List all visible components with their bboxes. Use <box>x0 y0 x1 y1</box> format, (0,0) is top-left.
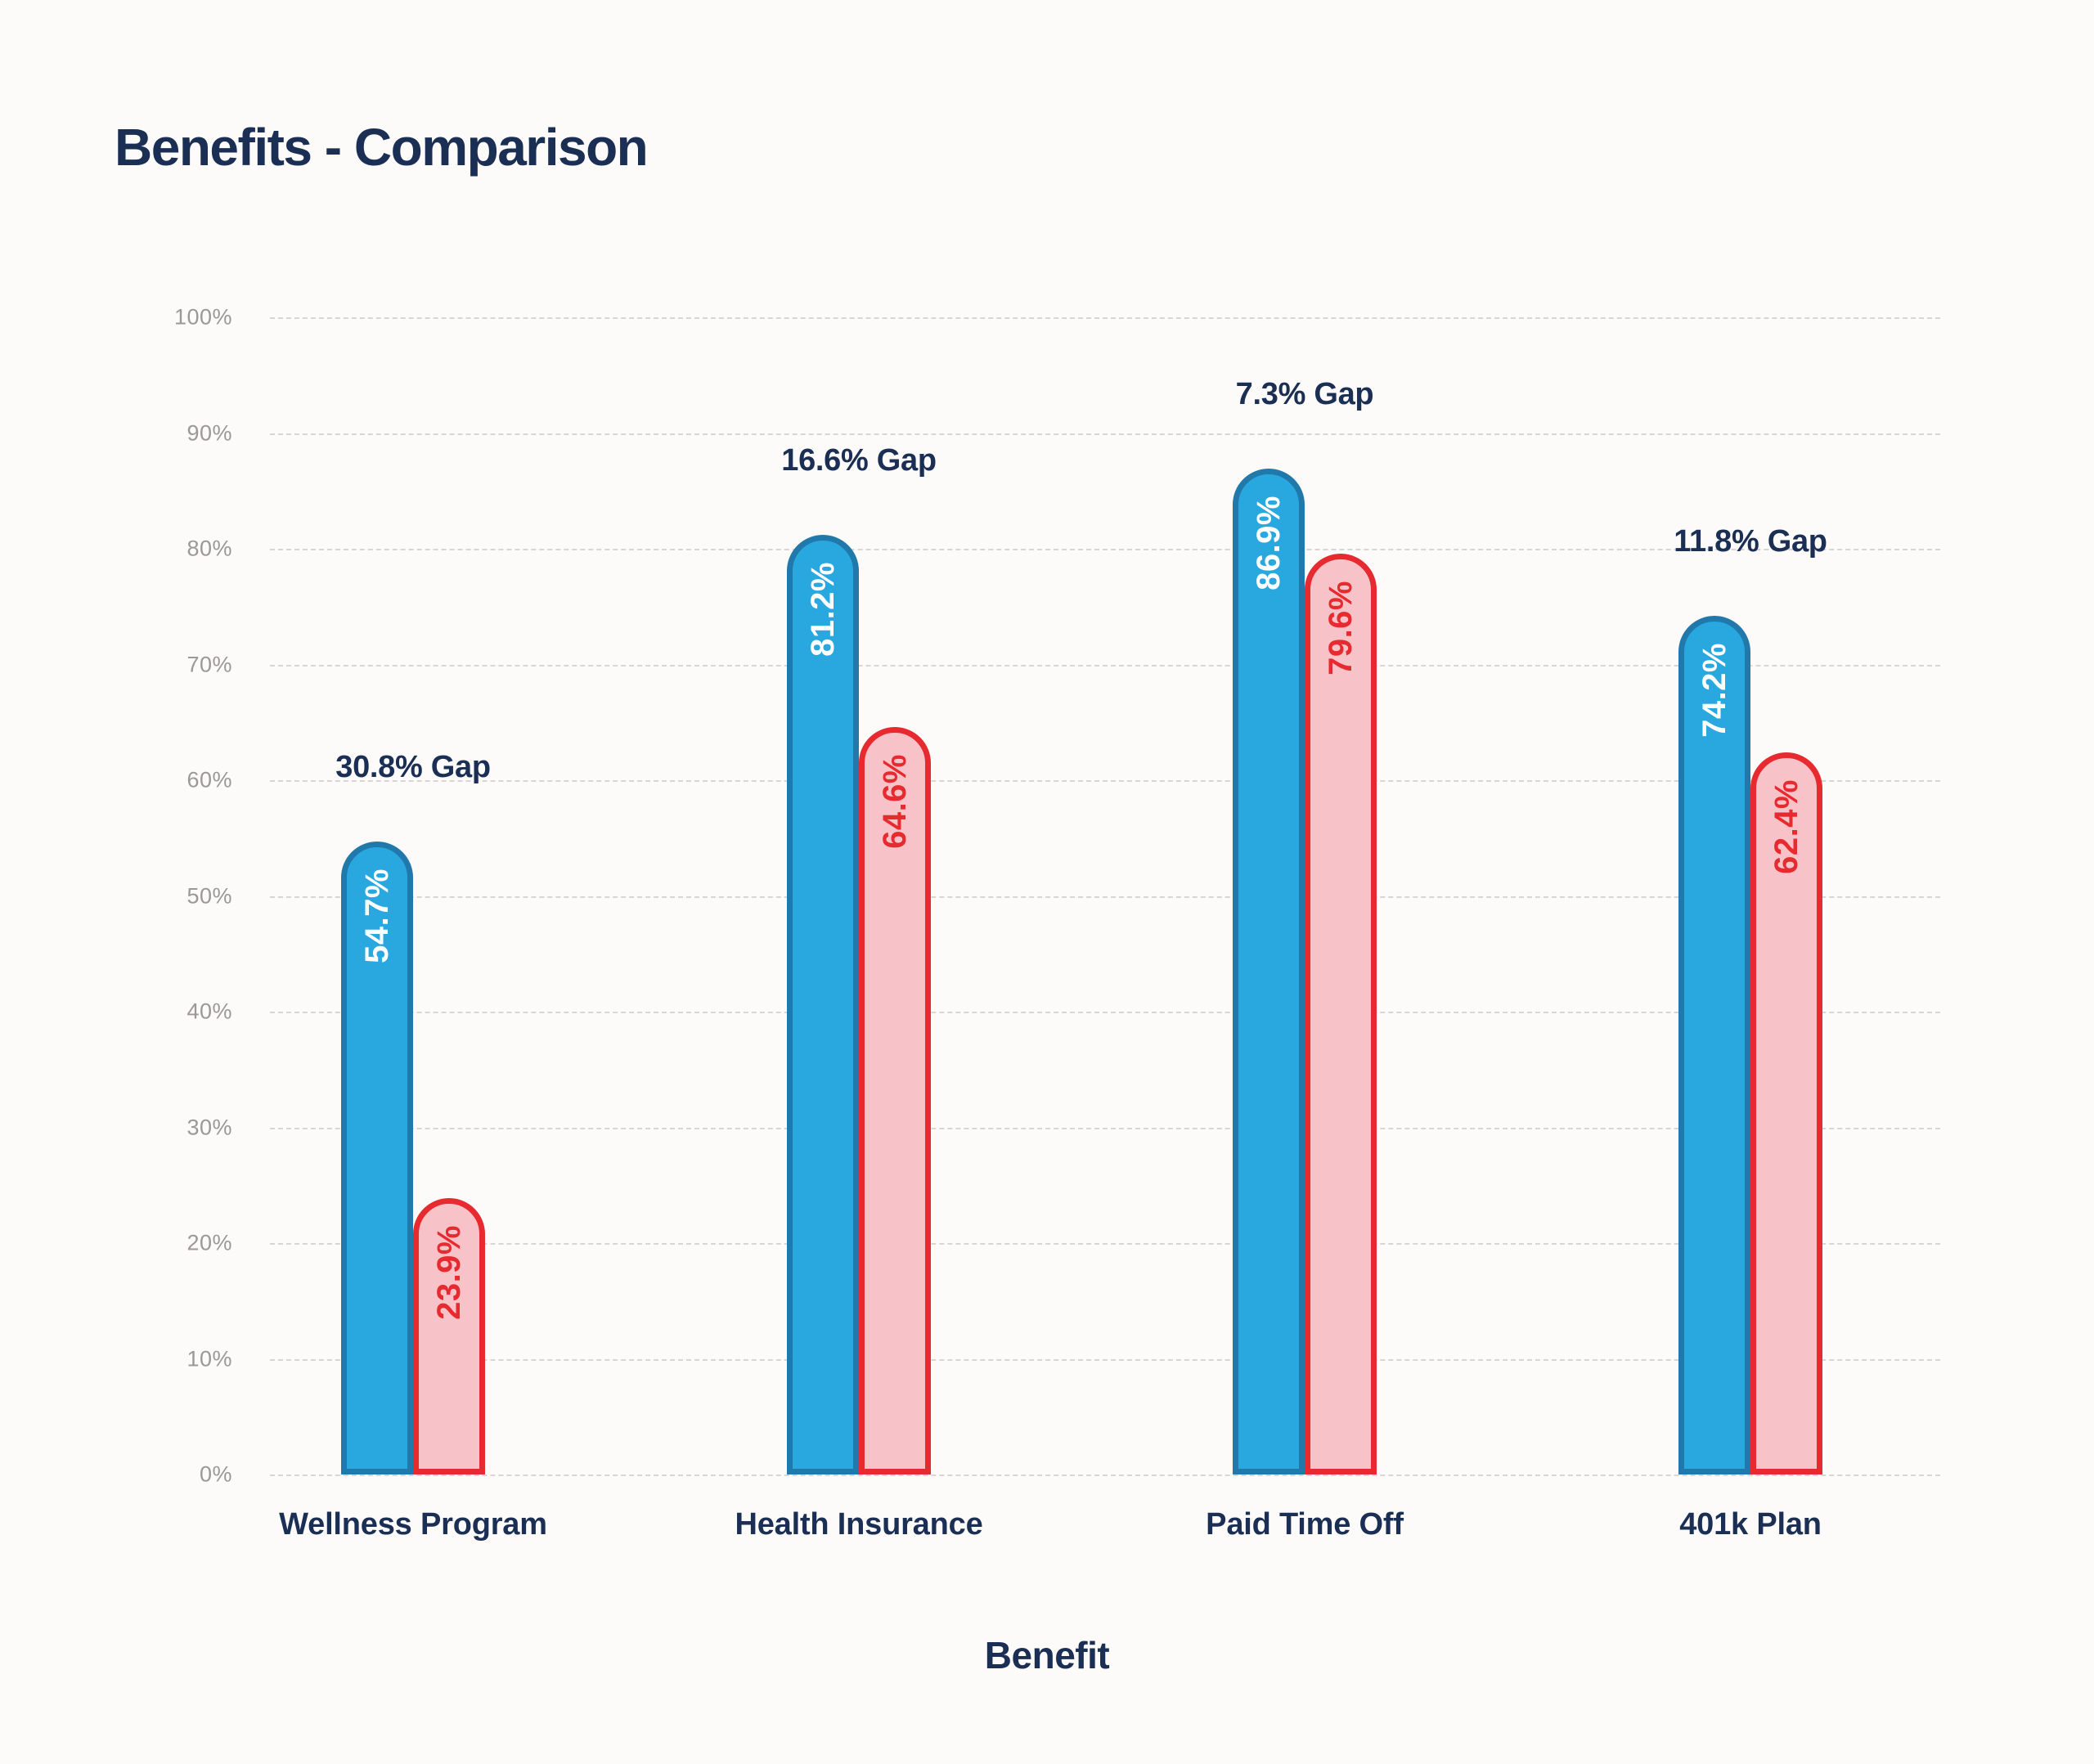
x-axis-tick-label: Health Insurance <box>735 1507 982 1542</box>
y-axis-tick-label: 100% <box>174 305 232 330</box>
bar-value-label: 79.6% <box>1324 581 1357 676</box>
bar-group: 74.2%62.4%11.8% Gap <box>1678 317 1822 1474</box>
bar-group: 81.2%64.6%16.6% Gap <box>787 317 931 1474</box>
y-axis-tick-label: 80% <box>186 536 232 562</box>
y-axis-tick-label: 50% <box>186 883 232 909</box>
bar-blue[interactable]: 74.2% <box>1678 616 1750 1474</box>
bar-value-label: 23.9% <box>433 1225 465 1320</box>
bar-blue[interactable]: 81.2% <box>787 535 859 1474</box>
y-axis-tick-label: 40% <box>186 999 232 1025</box>
bar-group: 86.9%79.6%7.3% Gap <box>1233 317 1377 1474</box>
y-axis-tick-label: 30% <box>186 1115 232 1140</box>
x-axis-title: Benefit <box>0 1633 2094 1677</box>
bar-pink[interactable]: 64.6% <box>859 727 931 1474</box>
bar-value-label: 64.6% <box>878 754 911 849</box>
y-axis-tick-label: 0% <box>200 1462 232 1488</box>
x-axis-tick-label: 401k Plan <box>1679 1507 1822 1542</box>
gap-annotation: 11.8% Gap <box>1674 524 1827 559</box>
gap-annotation: 7.3% Gap <box>1236 377 1374 412</box>
y-axis: 100%90%80%70%60%50%40%30%20%10%0% <box>0 317 270 1474</box>
bar-pink[interactable]: 79.6% <box>1305 554 1377 1474</box>
x-axis-tick-label: Wellness Program <box>279 1507 547 1542</box>
bar-value-label: 54.7% <box>361 869 393 963</box>
bar-pink[interactable]: 23.9% <box>413 1198 485 1474</box>
gap-annotation: 30.8% Gap <box>335 750 491 785</box>
gridline <box>270 1474 1940 1476</box>
bar-value-label: 81.2% <box>807 562 839 657</box>
y-axis-tick-label: 90% <box>186 420 232 446</box>
bar-pink[interactable]: 62.4% <box>1750 752 1822 1474</box>
y-axis-tick-label: 20% <box>186 1231 232 1256</box>
page-title: Benefits - Comparison <box>115 117 647 177</box>
bar-blue[interactable]: 54.7% <box>341 842 413 1474</box>
bar-value-label: 86.9% <box>1252 496 1285 590</box>
plot-area: 54.7%23.9%30.8% Gap81.2%64.6%16.6% Gap86… <box>270 317 1940 1474</box>
bar-value-label: 62.4% <box>1770 779 1803 874</box>
bar-group: 54.7%23.9%30.8% Gap <box>341 317 485 1474</box>
bar-value-label: 74.2% <box>1698 643 1731 738</box>
y-axis-tick-label: 60% <box>186 768 232 793</box>
gap-annotation: 16.6% Gap <box>781 443 937 478</box>
x-axis-tick-label: Paid Time Off <box>1206 1507 1404 1542</box>
bar-blue[interactable]: 86.9% <box>1233 469 1305 1474</box>
chart-canvas: Benefits - Comparison 100%90%80%70%60%50… <box>0 0 2094 1764</box>
y-axis-tick-label: 70% <box>186 652 232 677</box>
y-axis-tick-label: 10% <box>186 1346 232 1371</box>
